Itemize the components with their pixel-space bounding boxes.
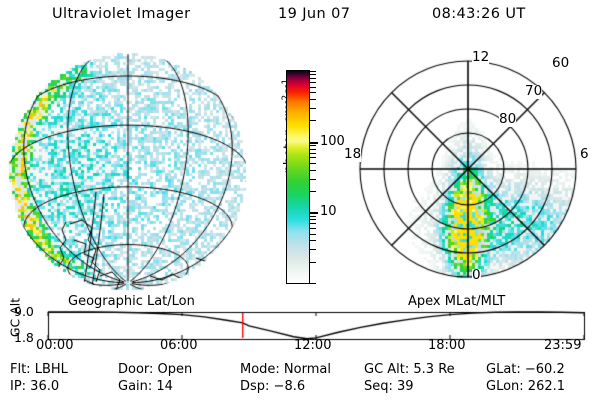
strip-x-tick-3: 18:00 (428, 338, 465, 353)
latitude-ring-label-80: 80 (499, 113, 516, 127)
colorbar-tick (310, 71, 316, 72)
colorbar-scale: 10010 (286, 70, 310, 284)
polar-dial-canvas (358, 44, 600, 296)
colorbar-tick (310, 163, 316, 164)
colorbar-tick (310, 240, 316, 241)
status-field-door: Door: Open (118, 362, 192, 377)
colorbar-tick (310, 145, 316, 146)
strip-x-tick-2: 12:00 (294, 338, 331, 353)
colorbar-tick (310, 262, 316, 263)
mlt-label-0: 0 (472, 269, 481, 283)
colorbar-gradient (287, 71, 309, 283)
status-field-mode: Mode: Normal (240, 362, 331, 377)
colorbar-tick (310, 234, 316, 235)
strip-x-tick-1: 06:00 (160, 338, 197, 353)
colorbar-tick (310, 216, 316, 217)
polar-dial-plot: 121860807060 (358, 44, 600, 296)
colorbar-tick (310, 223, 316, 224)
status-field-dsp: Dsp: −8.6 (240, 379, 305, 394)
latitude-ring-label-60: 60 (552, 57, 569, 71)
mlt-label-12: 12 (472, 51, 489, 65)
colorbar-panel: photon cm-2s-1 10010 (258, 44, 358, 296)
strip-y-tick-top: 9.0 (14, 306, 34, 319)
latitude-ring-label-70: 70 (525, 85, 542, 99)
colorbar-major-tick (310, 142, 318, 144)
colorbar-tick (310, 153, 316, 154)
colorbar-tick (310, 87, 316, 88)
colorbar-tick (310, 82, 316, 83)
status-field-flt: Flt: LBHL (10, 362, 68, 377)
colorbar-tick (310, 179, 316, 180)
status-row-2: IP: 36.0Gain: 14Dsp: −8.6Seq: 39GLon: 26… (0, 379, 600, 396)
observation-time: 08:43:26 UT (432, 6, 526, 22)
strip-x-tick-0: 00:00 (36, 338, 73, 353)
colorbar-tick (310, 283, 316, 284)
status-row-1: Flt: LBHLDoor: OpenMode: NormalGC Alt: 5… (0, 362, 600, 379)
colorbar-tick (310, 78, 316, 79)
mlt-label-6: 6 (580, 148, 589, 162)
colorbar-tick (310, 249, 316, 250)
status-field-gain: Gain: 14 (118, 379, 173, 394)
colorbar-tick (310, 170, 316, 171)
status-field-gc-alt: GC Alt: 5.3 Re (364, 362, 455, 377)
status-field-ip: IP: 36.0 (10, 379, 59, 394)
strip-y-tick-bottom: 1.8 (14, 332, 34, 345)
colorbar-tick (310, 108, 316, 109)
colorbar-tick (310, 219, 316, 220)
status-field-seq: Seq: 39 (364, 379, 414, 394)
colorbar-major-tick (310, 212, 318, 214)
page-title: Ultraviolet Imager (52, 6, 190, 22)
apex-caption: Apex MLat/MLT (408, 294, 505, 309)
colorbar-tick (310, 149, 316, 150)
status-bar: Flt: LBHLDoor: OpenMode: NormalGC Alt: 5… (0, 362, 600, 396)
status-field-glat: GLat: −60.2 (486, 362, 565, 377)
colorbar-tick (310, 99, 316, 100)
colorbar-tick (310, 92, 316, 93)
colorbar-tick (310, 120, 316, 121)
status-field-glon: GLon: 262.1 (486, 379, 565, 394)
earth-disk-canvas (0, 44, 258, 296)
colorbar-tick-label: 10 (320, 205, 337, 218)
colorbar-tick-label: 100 (320, 135, 345, 148)
colorbar-tick (310, 191, 316, 192)
earth-disk-image (0, 44, 258, 296)
geographic-caption: Geographic Lat/Lon (68, 294, 195, 309)
strip-x-tick-4: 23:59 (544, 338, 581, 353)
mlt-label-18: 18 (344, 148, 361, 162)
colorbar-tick (310, 74, 316, 75)
colorbar-tick (310, 228, 316, 229)
altitude-strip-chart: GC Alt 9.01.8Geographic Lat/LonApex MLat… (0, 296, 600, 354)
observation-date: 19 Jun 07 (278, 6, 350, 22)
colorbar-tick (310, 157, 316, 158)
